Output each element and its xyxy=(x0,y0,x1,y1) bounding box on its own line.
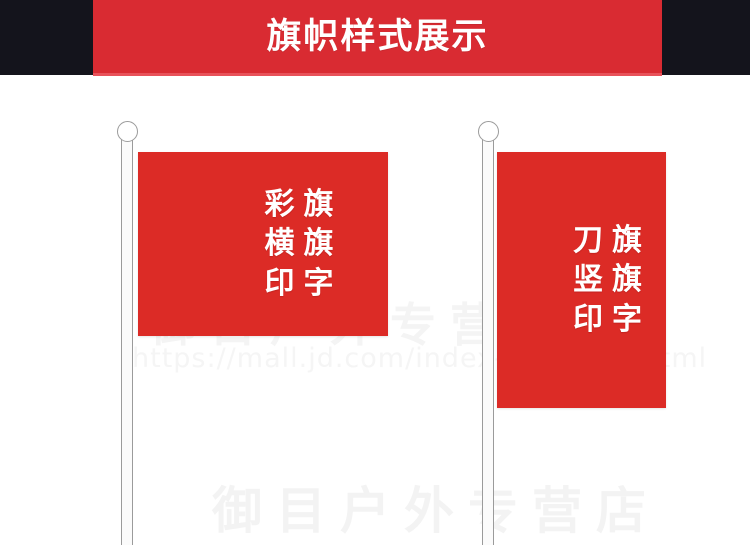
flag-cloth-horizontal: 彩旗 横旗 印字 xyxy=(138,152,388,336)
page-title: 旗帜样式展示 xyxy=(266,20,488,55)
flag-showcase-stage: 御目户外专营店 https://mall.jd.com/index-128776… xyxy=(0,75,750,545)
flag-text-line-3: 印字 xyxy=(564,300,651,340)
flag-text-line-3: 印字 xyxy=(256,264,343,304)
flag-text-line-1: 刀旗 xyxy=(564,221,651,261)
flag-text-line-2: 横旗 xyxy=(256,224,343,264)
watermark-shop-name-lower: 御目户外专营店 xyxy=(212,471,660,543)
flag-text-vertical: 刀旗 竖旗 印字 xyxy=(512,221,651,340)
product-banner-page: 旗帜样式展示 御目户外专营店 https://mall.jd.com/index… xyxy=(0,0,750,545)
flagpole xyxy=(482,137,494,545)
header-red-band: 旗帜样式展示 xyxy=(93,0,662,75)
flag-text-line-2: 竖旗 xyxy=(564,260,651,300)
flag-text-horizontal: 彩旗 横旗 印字 xyxy=(184,185,343,304)
flagpole-finial-icon xyxy=(478,121,499,142)
flag-text-line-1: 彩旗 xyxy=(256,185,343,225)
flagpole-finial-icon xyxy=(117,121,138,142)
flag-cloth-vertical: 刀旗 竖旗 印字 xyxy=(497,152,666,408)
header-bar: 旗帜样式展示 xyxy=(0,0,750,75)
flagpole xyxy=(121,137,133,545)
